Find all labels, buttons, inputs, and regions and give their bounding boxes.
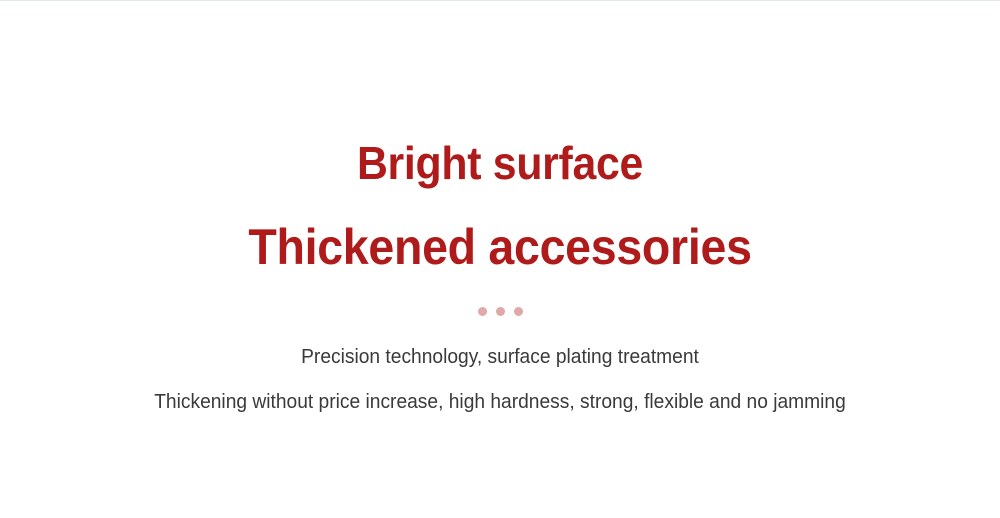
three-dots-separator-icon xyxy=(478,307,523,316)
separator-dot xyxy=(478,307,487,316)
banner-empty-lower-area xyxy=(0,412,1000,518)
subtitle-group: Precision technology, surface plating tr… xyxy=(0,347,1000,412)
separator-dot xyxy=(496,307,505,316)
subtitle-line-1: Precision technology, surface plating tr… xyxy=(20,347,980,367)
product-feature-banner: Bright surface Thickened accessories Pre… xyxy=(0,0,1000,518)
headline-secondary: Thickened accessories xyxy=(35,222,965,272)
headline-primary: Bright surface xyxy=(35,140,965,186)
subtitle-line-2: Thickening without price increase, high … xyxy=(20,392,980,412)
separator-dot xyxy=(514,307,523,316)
headline-group: Bright surface Thickened accessories xyxy=(0,140,1000,272)
